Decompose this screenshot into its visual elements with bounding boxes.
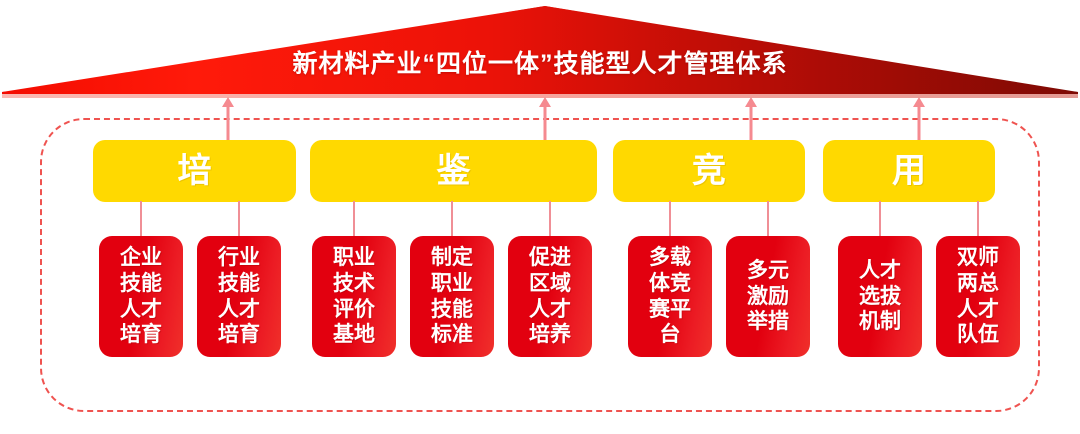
leaf-box-rencai-xuanba-jizhi[interactable]: 人才 选拔 机制 xyxy=(838,236,922,357)
pillar-label-yong: 用 xyxy=(892,154,926,188)
pillar-label-jing: 竞 xyxy=(692,154,726,188)
pillar-box-yong[interactable]: 用 xyxy=(823,140,995,202)
connector-pei-1 xyxy=(140,201,142,236)
leaf-label-zhiding-zhiye-jineng-biaozhun: 制定 职业 技能 标准 xyxy=(431,245,473,347)
connector-yong-2 xyxy=(977,201,979,236)
banner: 新材料产业“四位一体”技能型人才管理体系 xyxy=(0,0,1080,100)
leaf-label-hangye-jineng-rencai-peiyu: 行业 技能 人才 培育 xyxy=(218,245,260,347)
leaf-box-duozaiti-jingsai-pingtai[interactable]: 多载 体竞 赛平 台 xyxy=(628,236,712,357)
leaf-box-hangye-jineng-rencai-peiyu[interactable]: 行业 技能 人才 培育 xyxy=(197,236,281,357)
leaf-label-zhiye-jishu-pingjia-jidi: 职业 技术 评价 基地 xyxy=(333,245,375,347)
connector-jian-2 xyxy=(451,201,453,236)
leaf-label-duoyuan-jili-jucuo: 多元 激励 举措 xyxy=(747,258,789,335)
leaf-box-cujin-quyu-rencai-peiyang[interactable]: 促进 区域 人才 培养 xyxy=(508,236,592,357)
leaf-box-duoyuan-jili-jucuo[interactable]: 多元 激励 举措 xyxy=(726,236,810,357)
diagram-canvas: 新材料产业“四位一体”技能型人才管理体系 培 企业 技能 人才 培育 行业 技能… xyxy=(0,0,1080,434)
connector-jing-2 xyxy=(767,201,769,236)
leaf-label-duozaiti-jingsai-pingtai: 多载 体竞 赛平 台 xyxy=(649,245,691,347)
connector-jian-1 xyxy=(353,201,355,236)
pillar-box-pei[interactable]: 培 xyxy=(93,140,296,202)
pillar-label-jian: 鉴 xyxy=(437,154,471,188)
leaf-box-zhiye-jishu-pingjia-jidi[interactable]: 职业 技术 评价 基地 xyxy=(312,236,396,357)
pillar-box-jing[interactable]: 竞 xyxy=(613,140,805,202)
leaf-label-shuangshi-liangzong-rencai-duiwu: 双师 两总 人才 队伍 xyxy=(957,245,999,347)
connector-yong-1 xyxy=(879,201,881,236)
page-title: 新材料产业“四位一体”技能型人才管理体系 xyxy=(0,52,1080,77)
leaf-label-rencai-xuanba-jizhi: 人才 选拔 机制 xyxy=(859,258,901,335)
connector-jing-1 xyxy=(669,201,671,236)
leaf-label-qiye-jineng-rencai-peiyu: 企业 技能 人才 培育 xyxy=(120,245,162,347)
leaf-box-zhiding-zhiye-jineng-biaozhun[interactable]: 制定 职业 技能 标准 xyxy=(410,236,494,357)
leaf-label-cujin-quyu-rencai-peiyang: 促进 区域 人才 培养 xyxy=(529,245,571,347)
connector-jian-3 xyxy=(549,201,551,236)
leaf-box-qiye-jineng-rencai-peiyu[interactable]: 企业 技能 人才 培育 xyxy=(99,236,183,357)
pillar-label-pei: 培 xyxy=(178,154,212,188)
leaf-box-shuangshi-liangzong-rencai-duiwu[interactable]: 双师 两总 人才 队伍 xyxy=(936,236,1020,357)
connector-pei-2 xyxy=(238,201,240,236)
pillar-box-jian[interactable]: 鉴 xyxy=(310,140,597,202)
